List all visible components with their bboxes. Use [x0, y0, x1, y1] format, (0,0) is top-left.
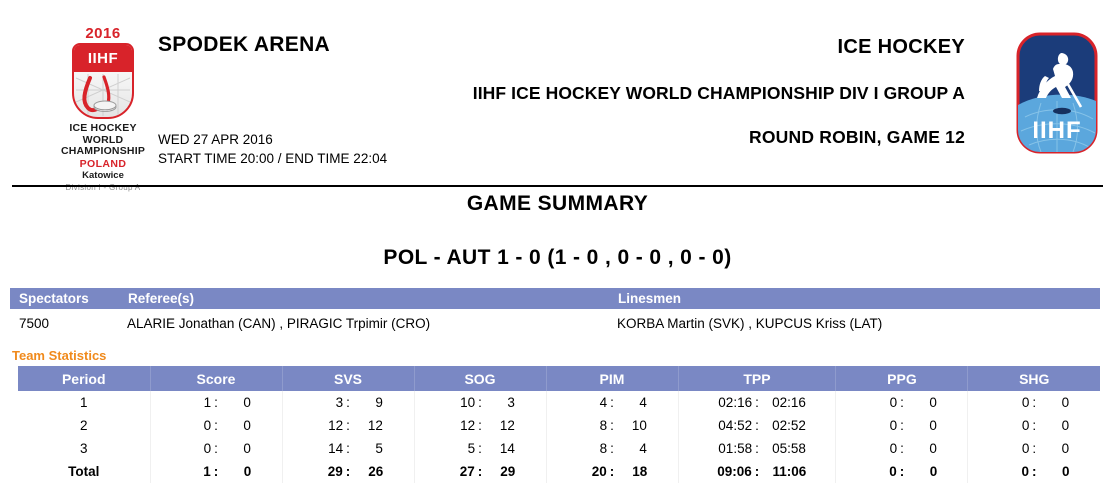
value-pair: 01:58:05:58 [708, 441, 806, 456]
value-pair: 5:14 [445, 441, 515, 456]
spectators-header: Spectators [19, 291, 89, 306]
event-logo-caption: ICE HOCKEY WORLD CHAMPIONSHIP [38, 123, 168, 158]
cell-sog: 27:29 [414, 460, 546, 483]
iihf-emblem-icon: IIHF [1015, 31, 1099, 155]
document-header: 2016 IIHF ICE HOCKEY [0, 0, 1115, 186]
table-row: 30:014:55:148:401:58:05:580:00:0 [18, 437, 1100, 460]
cell-pim: 20:18 [546, 460, 678, 483]
value-pair: 27:29 [445, 464, 516, 479]
value-pair: 0:0 [867, 395, 937, 410]
column-header-tpp: TPP [678, 366, 836, 391]
value-pair: 12:12 [313, 418, 383, 433]
team-statistics-title: Team Statistics [12, 348, 106, 363]
svg-text:IIHF: IIHF [1032, 117, 1081, 144]
officials-header-bar: Spectators Referee(s) Linesmen [10, 288, 1100, 309]
event-logo-year: 2016 [38, 26, 168, 42]
cell-period: 3 [18, 437, 150, 460]
event-logo-caption-line3: CHAMPIONSHIP [38, 146, 168, 158]
page-title: GAME SUMMARY [0, 192, 1115, 216]
cell-ppg: 0:0 [836, 391, 968, 414]
linesmen-value: KORBA Martin (SVK) , KUPCUS Kriss (LAT) [617, 316, 882, 331]
table-header-row: Period Score SVS SOG PIM TPP PPG SHG [18, 366, 1100, 391]
cell-ppg: 0:0 [836, 414, 968, 437]
table-body: 11:03:910:34:402:16:02:160:00:020:012:12… [18, 391, 1100, 483]
cell-tpp: 09:06:11:06 [678, 460, 836, 483]
column-header-shg: SHG [968, 366, 1100, 391]
sport-name: ICE HOCKEY [838, 36, 965, 59]
value-pair: 0:0 [867, 464, 938, 479]
cell-pim: 8:10 [546, 414, 678, 437]
cell-svs: 29:26 [282, 460, 414, 483]
column-header-period: Period [18, 366, 150, 391]
value-pair: 29:26 [313, 464, 384, 479]
value-pair: 4:4 [577, 395, 647, 410]
cell-score: 0:0 [150, 414, 282, 437]
shield-graphic [74, 72, 132, 119]
cell-ppg: 0:0 [836, 437, 968, 460]
cell-sog: 5:14 [414, 437, 546, 460]
tournament-name: IIHF ICE HOCKEY WORLD CHAMPIONSHIP DIV I… [473, 83, 965, 104]
value-pair: 1:0 [181, 464, 252, 479]
cell-shg: 0:0 [968, 437, 1100, 460]
cell-tpp: 04:52:02:52 [678, 414, 836, 437]
value-pair: 04:52:02:52 [708, 418, 806, 433]
hockey-stick-puck-icon [74, 72, 132, 119]
event-logo-country: POLAND [38, 158, 168, 170]
linesmen-header: Linesmen [618, 291, 681, 306]
value-pair: 0:0 [181, 441, 251, 456]
value-pair: 8:10 [577, 418, 647, 433]
value-pair: 10:3 [445, 395, 515, 410]
table-row: 20:012:1212:128:1004:52:02:520:00:0 [18, 414, 1100, 437]
value-pair: 1:0 [181, 395, 251, 410]
value-pair: 8:4 [577, 441, 647, 456]
value-pair: 0:0 [999, 464, 1070, 479]
cell-pim: 8:4 [546, 437, 678, 460]
value-pair: 3:9 [313, 395, 383, 410]
cell-period: 2 [18, 414, 150, 437]
cell-period: Total [18, 460, 150, 483]
value-pair: 14:5 [313, 441, 383, 456]
event-logo-division: Division I - Group A [38, 182, 168, 193]
value-pair: 0:0 [999, 441, 1069, 456]
game-times: START TIME 20:00 / END TIME 22:04 [158, 149, 387, 168]
score-summary: POL - AUT 1 - 0 (1 - 0 , 0 - 0 , 0 - 0) [0, 246, 1115, 270]
value-pair: 12:12 [445, 418, 515, 433]
column-header-svs: SVS [282, 366, 414, 391]
value-pair: 0:0 [999, 395, 1069, 410]
value-pair: 0:0 [181, 418, 251, 433]
cell-shg: 0:0 [968, 460, 1100, 483]
cell-tpp: 02:16:02:16 [678, 391, 836, 414]
cell-score: 1:0 [150, 391, 282, 414]
cell-sog: 12:12 [414, 414, 546, 437]
referees-header: Referee(s) [128, 291, 194, 306]
cell-period: 1 [18, 391, 150, 414]
cell-svs: 12:12 [282, 414, 414, 437]
cell-pim: 4:4 [546, 391, 678, 414]
arena-name: SPODEK ARENA [158, 33, 330, 57]
event-logo-caption-line1: ICE HOCKEY [38, 123, 168, 135]
value-pair: 02:16:02:16 [708, 395, 806, 410]
referees-value: ALARIE Jonathan (CAN) , PIRAGIC Trpimir … [127, 316, 430, 331]
cell-score: 1:0 [150, 460, 282, 483]
spectators-value: 7500 [19, 316, 49, 331]
value-pair: 0:0 [867, 418, 937, 433]
value-pair: 0:0 [867, 441, 937, 456]
round-game-label: ROUND ROBIN, GAME 12 [749, 127, 965, 148]
event-logo-shield: IIHF [72, 43, 134, 119]
cell-score: 0:0 [150, 437, 282, 460]
table-row: Total1:029:2627:2920:1809:06:11:060:00:0 [18, 460, 1100, 483]
table-row: 11:03:910:34:402:16:02:160:00:0 [18, 391, 1100, 414]
cell-tpp: 01:58:05:58 [678, 437, 836, 460]
cell-shg: 0:0 [968, 414, 1100, 437]
iihf-logo: IIHF [1015, 31, 1099, 155]
cell-sog: 10:3 [414, 391, 546, 414]
column-header-score: Score [150, 366, 282, 391]
event-logo: 2016 IIHF ICE HOCKEY [38, 26, 168, 193]
cell-svs: 14:5 [282, 437, 414, 460]
game-date: WED 27 APR 2016 [158, 130, 273, 149]
value-pair: 09:06:11:06 [708, 464, 807, 479]
column-header-sog: SOG [414, 366, 546, 391]
cell-ppg: 0:0 [836, 460, 968, 483]
shield-shape: IIHF [72, 43, 134, 119]
event-logo-city: Katowice [38, 170, 168, 182]
cell-svs: 3:9 [282, 391, 414, 414]
cell-shg: 0:0 [968, 391, 1100, 414]
value-pair: 20:18 [577, 464, 648, 479]
header-divider [12, 185, 1103, 187]
value-pair: 0:0 [999, 418, 1069, 433]
column-header-ppg: PPG [836, 366, 968, 391]
team-statistics-table: Period Score SVS SOG PIM TPP PPG SHG 11:… [18, 366, 1100, 483]
shield-federation-label: IIHF [74, 45, 132, 72]
column-header-pim: PIM [546, 366, 678, 391]
